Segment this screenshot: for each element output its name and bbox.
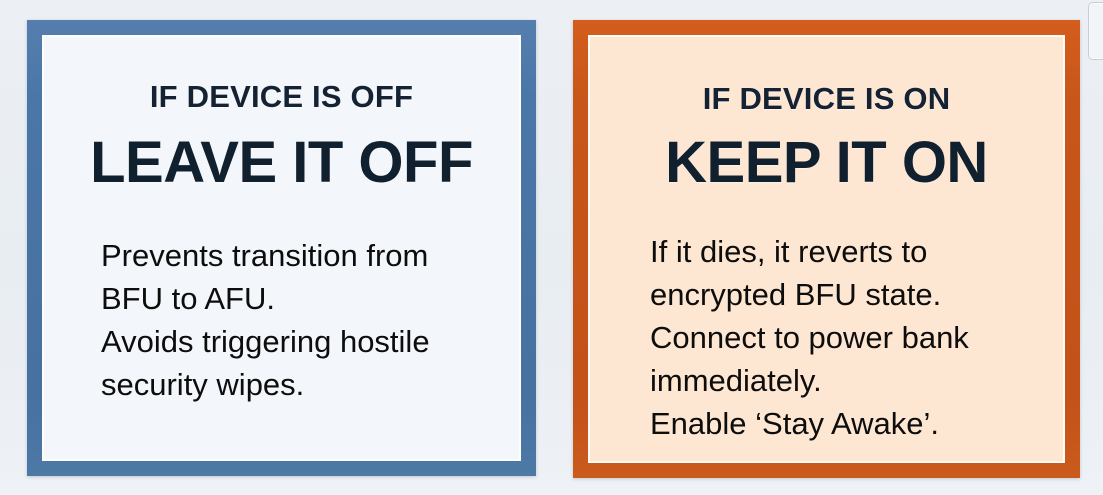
offscreen-panel-edge: [1088, 2, 1103, 60]
body-line: Avoids triggering hostile: [101, 320, 519, 363]
card-device-off-eyebrow: IF DEVICE IS OFF: [150, 81, 413, 112]
body-line: encrypted BFU state.: [650, 273, 1063, 316]
card-device-off-interior: IF DEVICE IS OFF LEAVE IT OFF Prevents t…: [42, 35, 521, 461]
card-device-off-frame: IF DEVICE IS OFF LEAVE IT OFF Prevents t…: [27, 20, 536, 476]
card-device-on-interior: IF DEVICE IS ON KEEP IT ON If it dies, i…: [588, 35, 1065, 463]
card-device-off: IF DEVICE IS OFF LEAVE IT OFF Prevents t…: [27, 20, 536, 476]
card-device-on-eyebrow: IF DEVICE IS ON: [703, 83, 951, 114]
card-device-off-body: Prevents transition from BFU to AFU. Avo…: [44, 234, 519, 406]
body-line: BFU to AFU.: [101, 277, 519, 320]
body-line: If it dies, it reverts to: [650, 230, 1063, 273]
card-device-on: IF DEVICE IS ON KEEP IT ON If it dies, i…: [573, 20, 1080, 478]
body-line: immediately.: [650, 359, 1063, 402]
card-device-on-body: If it dies, it reverts to encrypted BFU …: [590, 230, 1063, 445]
body-line: Prevents transition from: [101, 234, 519, 277]
slide-canvas: IF DEVICE IS OFF LEAVE IT OFF Prevents t…: [0, 0, 1103, 495]
card-device-on-frame: IF DEVICE IS ON KEEP IT ON If it dies, i…: [573, 20, 1080, 478]
body-line: Enable ‘Stay Awake’.: [650, 402, 1063, 445]
card-device-off-headline: LEAVE IT OFF: [90, 134, 473, 192]
card-device-on-headline: KEEP IT ON: [665, 134, 988, 192]
body-line: security wipes.: [101, 363, 519, 406]
body-line: Connect to power bank: [650, 316, 1063, 359]
